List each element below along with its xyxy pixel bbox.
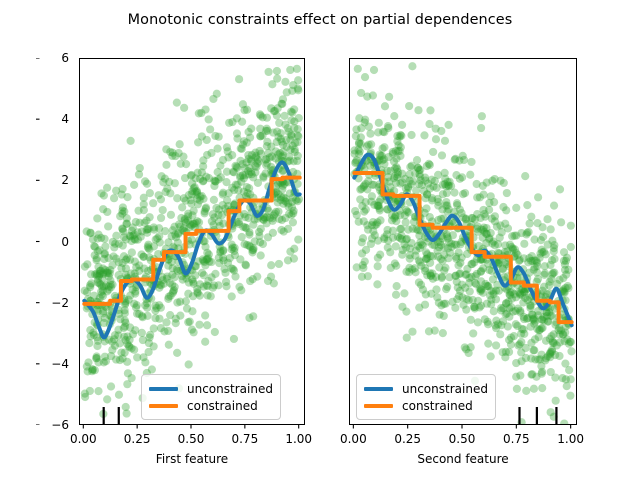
- x-axis-ticks-right: 0.000.250.500.751.00: [349, 428, 577, 446]
- legend-item-unconstrained: unconstrained: [364, 380, 488, 397]
- legend-label: constrained: [402, 399, 473, 413]
- x-axis-label-right: Second feature: [349, 452, 577, 466]
- scatter-points: [81, 65, 303, 418]
- x-axis-label-left: First feature: [79, 452, 305, 466]
- legend-swatch-line-icon: [364, 387, 393, 391]
- x-axis-ticks-left: 0.000.250.500.751.00: [79, 428, 305, 446]
- legend-item-constrained: constrained: [149, 397, 273, 414]
- legend-item-constrained: constrained: [364, 397, 488, 414]
- y-axis-label: Partial dependence: [2, 0, 28, 84]
- scatter-points: [350, 62, 575, 424]
- legend-left: unconstrained constrained: [141, 374, 281, 420]
- legend-swatch-line-icon: [364, 404, 393, 408]
- plot-panel-first-feature: [79, 58, 305, 425]
- legend-label: unconstrained: [402, 382, 488, 396]
- legend-label: constrained: [187, 399, 258, 413]
- figure-canvas: Monotonic constraints effect on partial …: [0, 0, 640, 480]
- plot-panel-second-feature: [349, 58, 577, 425]
- page-title: Monotonic constraints effect on partial …: [0, 12, 640, 28]
- legend-swatch-line-icon: [149, 387, 178, 391]
- y-axis-ticks-left: 6420−2−4−6: [36, 58, 74, 425]
- legend-right: unconstrained constrained: [356, 374, 496, 420]
- legend-item-unconstrained: unconstrained: [149, 380, 273, 397]
- legend-label: unconstrained: [187, 382, 273, 396]
- legend-swatch-line-icon: [149, 404, 178, 408]
